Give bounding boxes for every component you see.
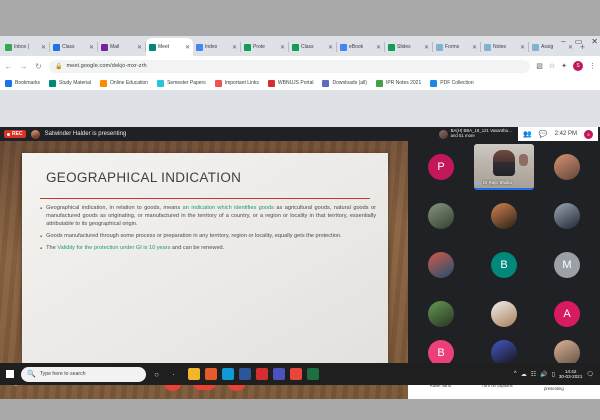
tab-favicon-icon	[388, 44, 395, 51]
people-icon[interactable]: 👥	[523, 130, 532, 138]
window-controls: – ▭ ✕	[561, 38, 598, 46]
bookmark-favicon-icon	[157, 80, 164, 87]
action-center-icon[interactable]: 🗨	[586, 371, 594, 378]
bookmark-star-icon[interactable]: ☆	[549, 62, 555, 70]
participant-photo-avatar	[428, 252, 454, 278]
participant-cell[interactable]	[474, 291, 534, 337]
tab-favicon-icon	[196, 44, 203, 51]
bookmark-item[interactable]: Important Links	[215, 80, 259, 87]
minimize-button[interactable]: –	[561, 38, 565, 46]
lock-icon: 🔒	[55, 63, 62, 70]
participant-cell[interactable]	[537, 144, 597, 190]
browser-tab[interactable]: Class✕	[50, 38, 97, 56]
browser-tab[interactable]: Meet✕	[146, 38, 193, 56]
tab-close-icon[interactable]: ✕	[472, 44, 477, 51]
notification-badge[interactable]: 5	[584, 130, 593, 139]
bookmark-favicon-icon	[49, 80, 56, 87]
bookmark-favicon-icon	[100, 80, 107, 87]
bullet-marker-icon: ▪	[40, 233, 42, 241]
acrobat-icon[interactable]	[256, 368, 268, 380]
chrome-icon[interactable]	[290, 368, 302, 380]
taskbar-search-input[interactable]: 🔍 Type here to search	[21, 367, 146, 382]
excel-icon[interactable]	[307, 368, 319, 380]
bullet-marker-icon: ▪	[40, 205, 42, 229]
taskbar-clock[interactable]: 14:42 30-03-2021	[559, 369, 583, 380]
participant-initial-avatar: P	[428, 154, 454, 180]
bullet-marker-icon: ▪	[40, 245, 42, 253]
recording-badge: REC	[4, 130, 26, 138]
presenting-status: Satwinder Halder is presenting	[45, 131, 127, 137]
slide-title: GEOGRAPHICAL INDICATION	[46, 170, 241, 185]
tab-close-icon[interactable]: ✕	[328, 44, 333, 51]
cortana-icon[interactable]: ·	[167, 368, 180, 381]
browser-tab[interactable]: Inbox (✕	[2, 38, 49, 56]
forward-icon[interactable]: →	[19, 62, 28, 71]
tab-label: Class	[62, 44, 87, 50]
tab-favicon-icon	[244, 44, 251, 51]
browser-toolbar: ← → ↻ 🔒 meet.google.com/dekjo-mxr-zrh ▧ …	[0, 56, 600, 76]
bookmark-favicon-icon	[215, 80, 222, 87]
tab-favicon-icon	[436, 44, 443, 51]
slide-bullet: ▪Goods manufactured through some process…	[40, 233, 376, 241]
participant-initial-avatar: M	[554, 252, 580, 278]
bookmark-item[interactable]: Online Education	[100, 80, 148, 87]
bullet-highlight: an indication which identifies goods	[183, 205, 274, 211]
tab-label: Notes	[493, 44, 518, 50]
browser-tab[interactable]: Class✕	[289, 38, 336, 56]
presentation-stage: GEOGRAPHICAL INDICATION ▪Geographical in…	[0, 141, 408, 399]
participant-photo-avatar	[428, 203, 454, 229]
clock-time: 14:42	[565, 369, 577, 374]
close-button[interactable]: ✕	[591, 38, 598, 46]
participant-video-figure	[493, 150, 515, 176]
back-icon[interactable]: ←	[4, 62, 13, 71]
tab-label: Index	[205, 44, 230, 50]
recording-badge-label: REC	[12, 131, 23, 137]
participant-initial-avatar: B	[491, 252, 517, 278]
extensions-icon[interactable]: ✦	[561, 62, 567, 70]
participant-cell[interactable]	[411, 242, 471, 288]
bullet-plain: Geographical indication, in relation to …	[46, 205, 183, 211]
network-icon[interactable]: ☷	[531, 371, 536, 378]
participant-cell[interactable]: P	[411, 144, 471, 190]
browser-tab[interactable]: Notes✕	[481, 38, 528, 56]
bookmark-favicon-icon	[376, 80, 383, 87]
tab-close-icon[interactable]: ✕	[280, 44, 285, 51]
presenter-avatar	[31, 130, 40, 139]
participant-initial-avatar: A	[554, 301, 580, 327]
meet-header: REC Satwinder Halder is presenting BA(H)…	[0, 127, 600, 141]
bookmark-favicon-icon	[322, 80, 329, 87]
bookmark-favicon-icon	[268, 80, 275, 87]
tab-close-icon[interactable]: ✕	[137, 44, 142, 51]
bullet-plain: Goods manufactured through some process …	[46, 233, 342, 239]
word-icon[interactable]	[239, 368, 251, 380]
cast-icon[interactable]: ▧	[536, 62, 543, 70]
desktop-screen: Inbox (✕Class✕Mail✕Meet✕Index✕Prote✕Clas…	[0, 0, 600, 420]
participant-photo-avatar	[491, 203, 517, 229]
tab-favicon-icon	[484, 44, 491, 51]
slide-bullet-list: ▪Geographical indication, in relation to…	[40, 205, 376, 257]
show-hidden-icon[interactable]: ^	[514, 371, 517, 377]
bookmark-favicon-icon	[430, 80, 437, 87]
bookmark-label: Bookmarks	[15, 80, 40, 86]
tab-label: eBook	[349, 44, 374, 50]
clock-date: 30-03-2021	[559, 374, 583, 379]
browser-tab-strip: Inbox (✕Class✕Mail✕Meet✕Index✕Prote✕Clas…	[0, 36, 600, 56]
slide-divider	[40, 198, 370, 199]
address-bar-url: meet.google.com/dekjo-mxr-zrh	[66, 63, 146, 69]
tab-favicon-icon	[5, 44, 12, 51]
tab-label: Class	[301, 44, 326, 50]
reload-icon[interactable]: ↻	[34, 62, 43, 71]
tab-close-icon[interactable]: ✕	[232, 44, 237, 51]
bookmark-item[interactable]: IPR Notes 2021	[376, 80, 421, 87]
tab-close-icon[interactable]: ✕	[89, 44, 94, 51]
edge-icon[interactable]	[222, 368, 234, 380]
bookmark-label: Semester Papers	[167, 80, 206, 86]
onedrive-icon[interactable]: ☁	[521, 371, 527, 378]
search-placeholder: Type here to search	[40, 371, 86, 377]
toolbar-right-icons: ▧ ☆ ✦ S ⋮	[536, 61, 596, 71]
participant-photo-avatar	[554, 154, 580, 180]
participant-cell[interactable]: M	[537, 242, 597, 288]
bookmark-item[interactable]: Study Material	[49, 80, 91, 87]
bullet-plain: The	[46, 245, 57, 251]
address-bar[interactable]: 🔒 meet.google.com/dekjo-mxr-zrh	[49, 60, 530, 73]
profile-avatar[interactable]: S	[573, 61, 583, 71]
presentation-slide: GEOGRAPHICAL INDICATION ▪Geographical in…	[22, 153, 388, 363]
browser-tab[interactable]: Prote✕	[241, 38, 288, 56]
system-tray: ^ ☁ ☷ 🔊 ▯ 14:42 30-03-2021 🗨	[514, 369, 597, 380]
browser-tab[interactable]: eBook✕	[337, 38, 384, 56]
tab-label: Inbox (	[14, 44, 39, 50]
bullet-text: Geographical indication, in relation to …	[46, 205, 376, 229]
participants-panel: PDr Rajiv BhallaBMAB	[408, 141, 600, 399]
tab-label: Meet	[158, 44, 183, 50]
meet-clock: 2:42 PM	[555, 131, 577, 137]
bookmarks-bar: BookmarksStudy MaterialOnline EducationS…	[0, 76, 600, 91]
participants-grid: PDr Rajiv BhallaBMAB	[411, 144, 597, 366]
participant-photo-avatar	[554, 203, 580, 229]
tab-favicon-icon	[532, 44, 539, 51]
active-speaker-chip: BA(H) BBA_19_121 Vasantha… and 51 more	[439, 129, 513, 139]
bookmark-label: PDF Collection	[440, 80, 473, 86]
tab-label: Slides	[397, 44, 422, 50]
active-speaker-name: BA(H) BBA_19_121 Vasantha… and 51 more	[451, 129, 513, 139]
task-view-icon[interactable]: ○	[150, 368, 163, 381]
bullet-plain: and can be renewed.	[170, 245, 224, 251]
bullet-text: Goods manufactured through some process …	[46, 233, 376, 241]
tab-close-icon[interactable]: ✕	[41, 44, 46, 51]
participant-cell[interactable]: B	[474, 242, 534, 288]
browser-tab[interactable]: Index✕	[193, 38, 240, 56]
bookmark-label: IPR Notes 2021	[386, 80, 421, 86]
slide-bullet: ▪Geographical indication, in relation to…	[40, 205, 376, 229]
featured-video-tile[interactable]: Dr Rajiv Bhalla	[474, 144, 534, 190]
tab-label: Mail	[110, 44, 135, 50]
tab-favicon-icon	[292, 44, 299, 51]
bookmark-item[interactable]: WBNUJS Portal	[268, 80, 314, 87]
tab-close-icon[interactable]: ✕	[185, 44, 190, 51]
bookmark-item[interactable]: Semester Papers	[157, 80, 206, 87]
bookmark-label: Study Material	[59, 80, 91, 86]
meet-header-right: BA(H) BBA_19_121 Vasantha… and 51 more 👥…	[439, 127, 598, 141]
bookmark-label: Online Education	[110, 80, 148, 86]
browser-tab[interactable]: Forms✕	[433, 38, 480, 56]
windows-start-icon[interactable]	[3, 367, 17, 381]
tab-label: Prote	[253, 44, 278, 50]
recording-dot-icon	[7, 133, 10, 136]
file-explorer-icon[interactable]	[188, 368, 200, 380]
bookmark-label: WBNUJS Portal	[278, 80, 314, 86]
meet-header-actions: 👥 💬 2:42 PM 5	[518, 127, 598, 141]
featured-tile-label: Dr Rajiv Bhalla	[483, 180, 512, 185]
chrome-menu-icon[interactable]: ⋮	[589, 62, 596, 70]
featured-tile-name: Dr Rajiv Bhalla	[476, 180, 512, 185]
chat-icon[interactable]: 💬	[539, 130, 548, 138]
search-icon: 🔍	[27, 370, 36, 378]
google-meet-app: REC Satwinder Halder is presenting BA(H)…	[0, 127, 600, 399]
bookmark-favicon-icon	[5, 80, 12, 87]
participant-cell[interactable]	[474, 193, 534, 239]
sound-icon[interactable]: 🔊	[540, 371, 547, 378]
bullet-text: The Validity for the protection under GI…	[46, 245, 376, 253]
participant-cell[interactable]	[537, 193, 597, 239]
tab-close-icon[interactable]: ✕	[376, 44, 381, 51]
windows-taskbar: 🔍 Type here to search ○ · ^ ☁ ☷ 🔊 ▯ 14:4…	[0, 363, 600, 385]
battery-icon[interactable]: ▯	[552, 371, 555, 378]
browser-tab[interactable]: Slides✕	[385, 38, 432, 56]
participant-photo-avatar	[428, 301, 454, 327]
bookmark-item[interactable]: PDF Collection	[430, 80, 473, 87]
tab-favicon-icon	[340, 44, 347, 51]
mic-active-icon	[476, 180, 481, 185]
maximize-button[interactable]: ▭	[575, 38, 583, 46]
tab-close-icon[interactable]: ✕	[424, 44, 429, 51]
active-speaker-avatar	[439, 130, 448, 139]
tab-label: Forms	[445, 44, 470, 50]
participant-cell[interactable]	[411, 193, 471, 239]
chrome-browser-window: Inbox (✕Class✕Mail✕Meet✕Index✕Prote✕Clas…	[0, 36, 600, 363]
firefox-icon[interactable]	[205, 368, 217, 380]
participant-cell[interactable]: Dr Rajiv Bhalla	[474, 144, 534, 190]
bullet-highlight: Validity for the protection under GI is …	[57, 245, 170, 251]
bookmark-item[interactable]: Bookmarks	[5, 80, 40, 87]
slide-bullet: ▪The Validity for the protection under G…	[40, 245, 376, 253]
teams-icon[interactable]	[273, 368, 285, 380]
bookmark-item[interactable]: Downloads (all)	[322, 80, 366, 87]
participant-photo-avatar	[491, 301, 517, 327]
bookmark-label: Important Links	[225, 80, 259, 86]
participant-cell[interactable]	[411, 291, 471, 337]
participant-cell[interactable]: A	[537, 291, 597, 337]
active-speaker-overflow: and 51 more	[451, 133, 475, 138]
bookmark-label: Downloads (all)	[332, 80, 366, 86]
tab-close-icon[interactable]: ✕	[520, 44, 525, 51]
tab-favicon-icon	[53, 44, 60, 51]
browser-tab[interactable]: Mail✕	[98, 38, 145, 56]
participant-hand	[519, 154, 528, 166]
tab-favicon-icon	[149, 44, 156, 51]
tab-favicon-icon	[101, 44, 108, 51]
